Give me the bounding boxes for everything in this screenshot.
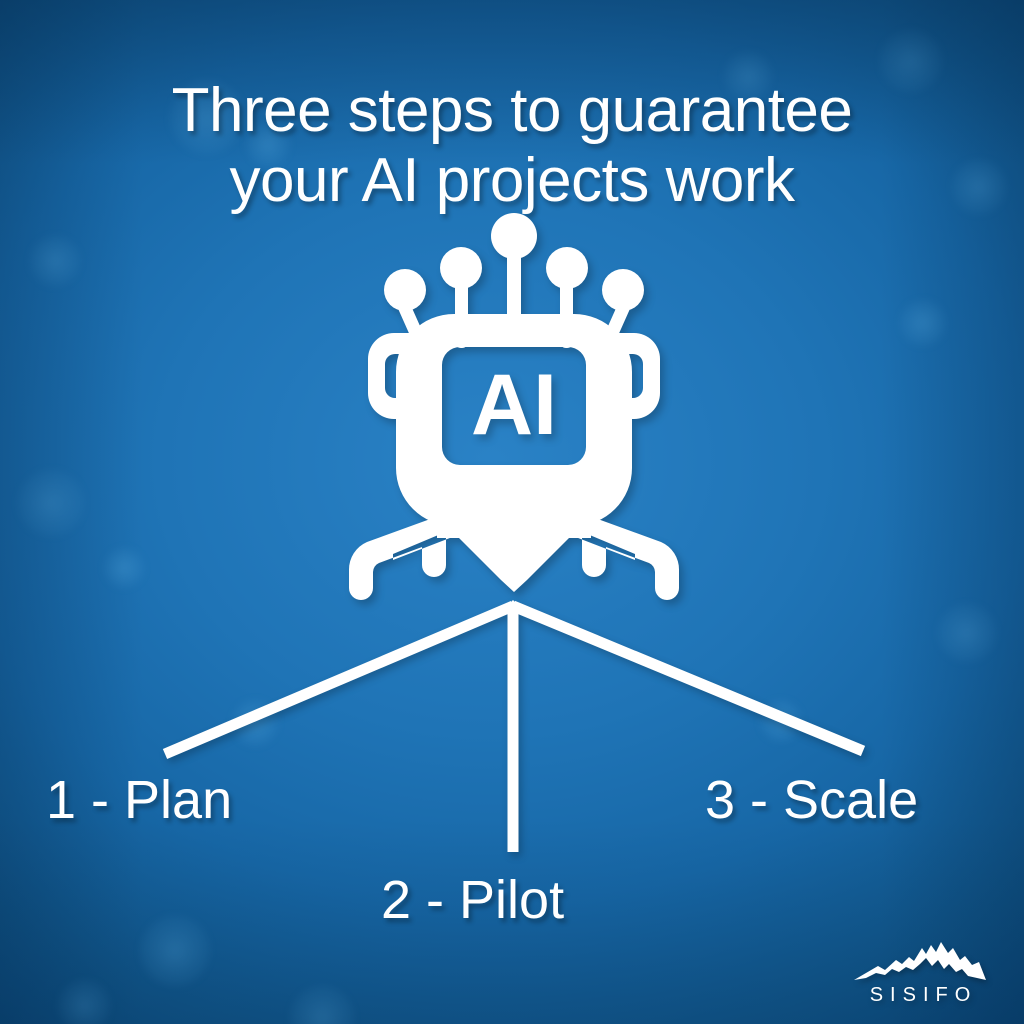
brand-wordmark: SISIFO [836,984,1004,1007]
step-label-plan: 1 - Plan [46,769,232,831]
connector-line-right [513,606,863,751]
step-label-scale: 3 - Scale [705,769,918,831]
brand-logo: SISIFO [836,936,1004,1007]
connector-line-left [165,606,513,754]
step-label-pilot: 2 - Pilot [381,869,564,931]
poster-canvas: Three steps to guarantee your AI project… [0,0,1024,1024]
mountain-icon [852,936,988,982]
